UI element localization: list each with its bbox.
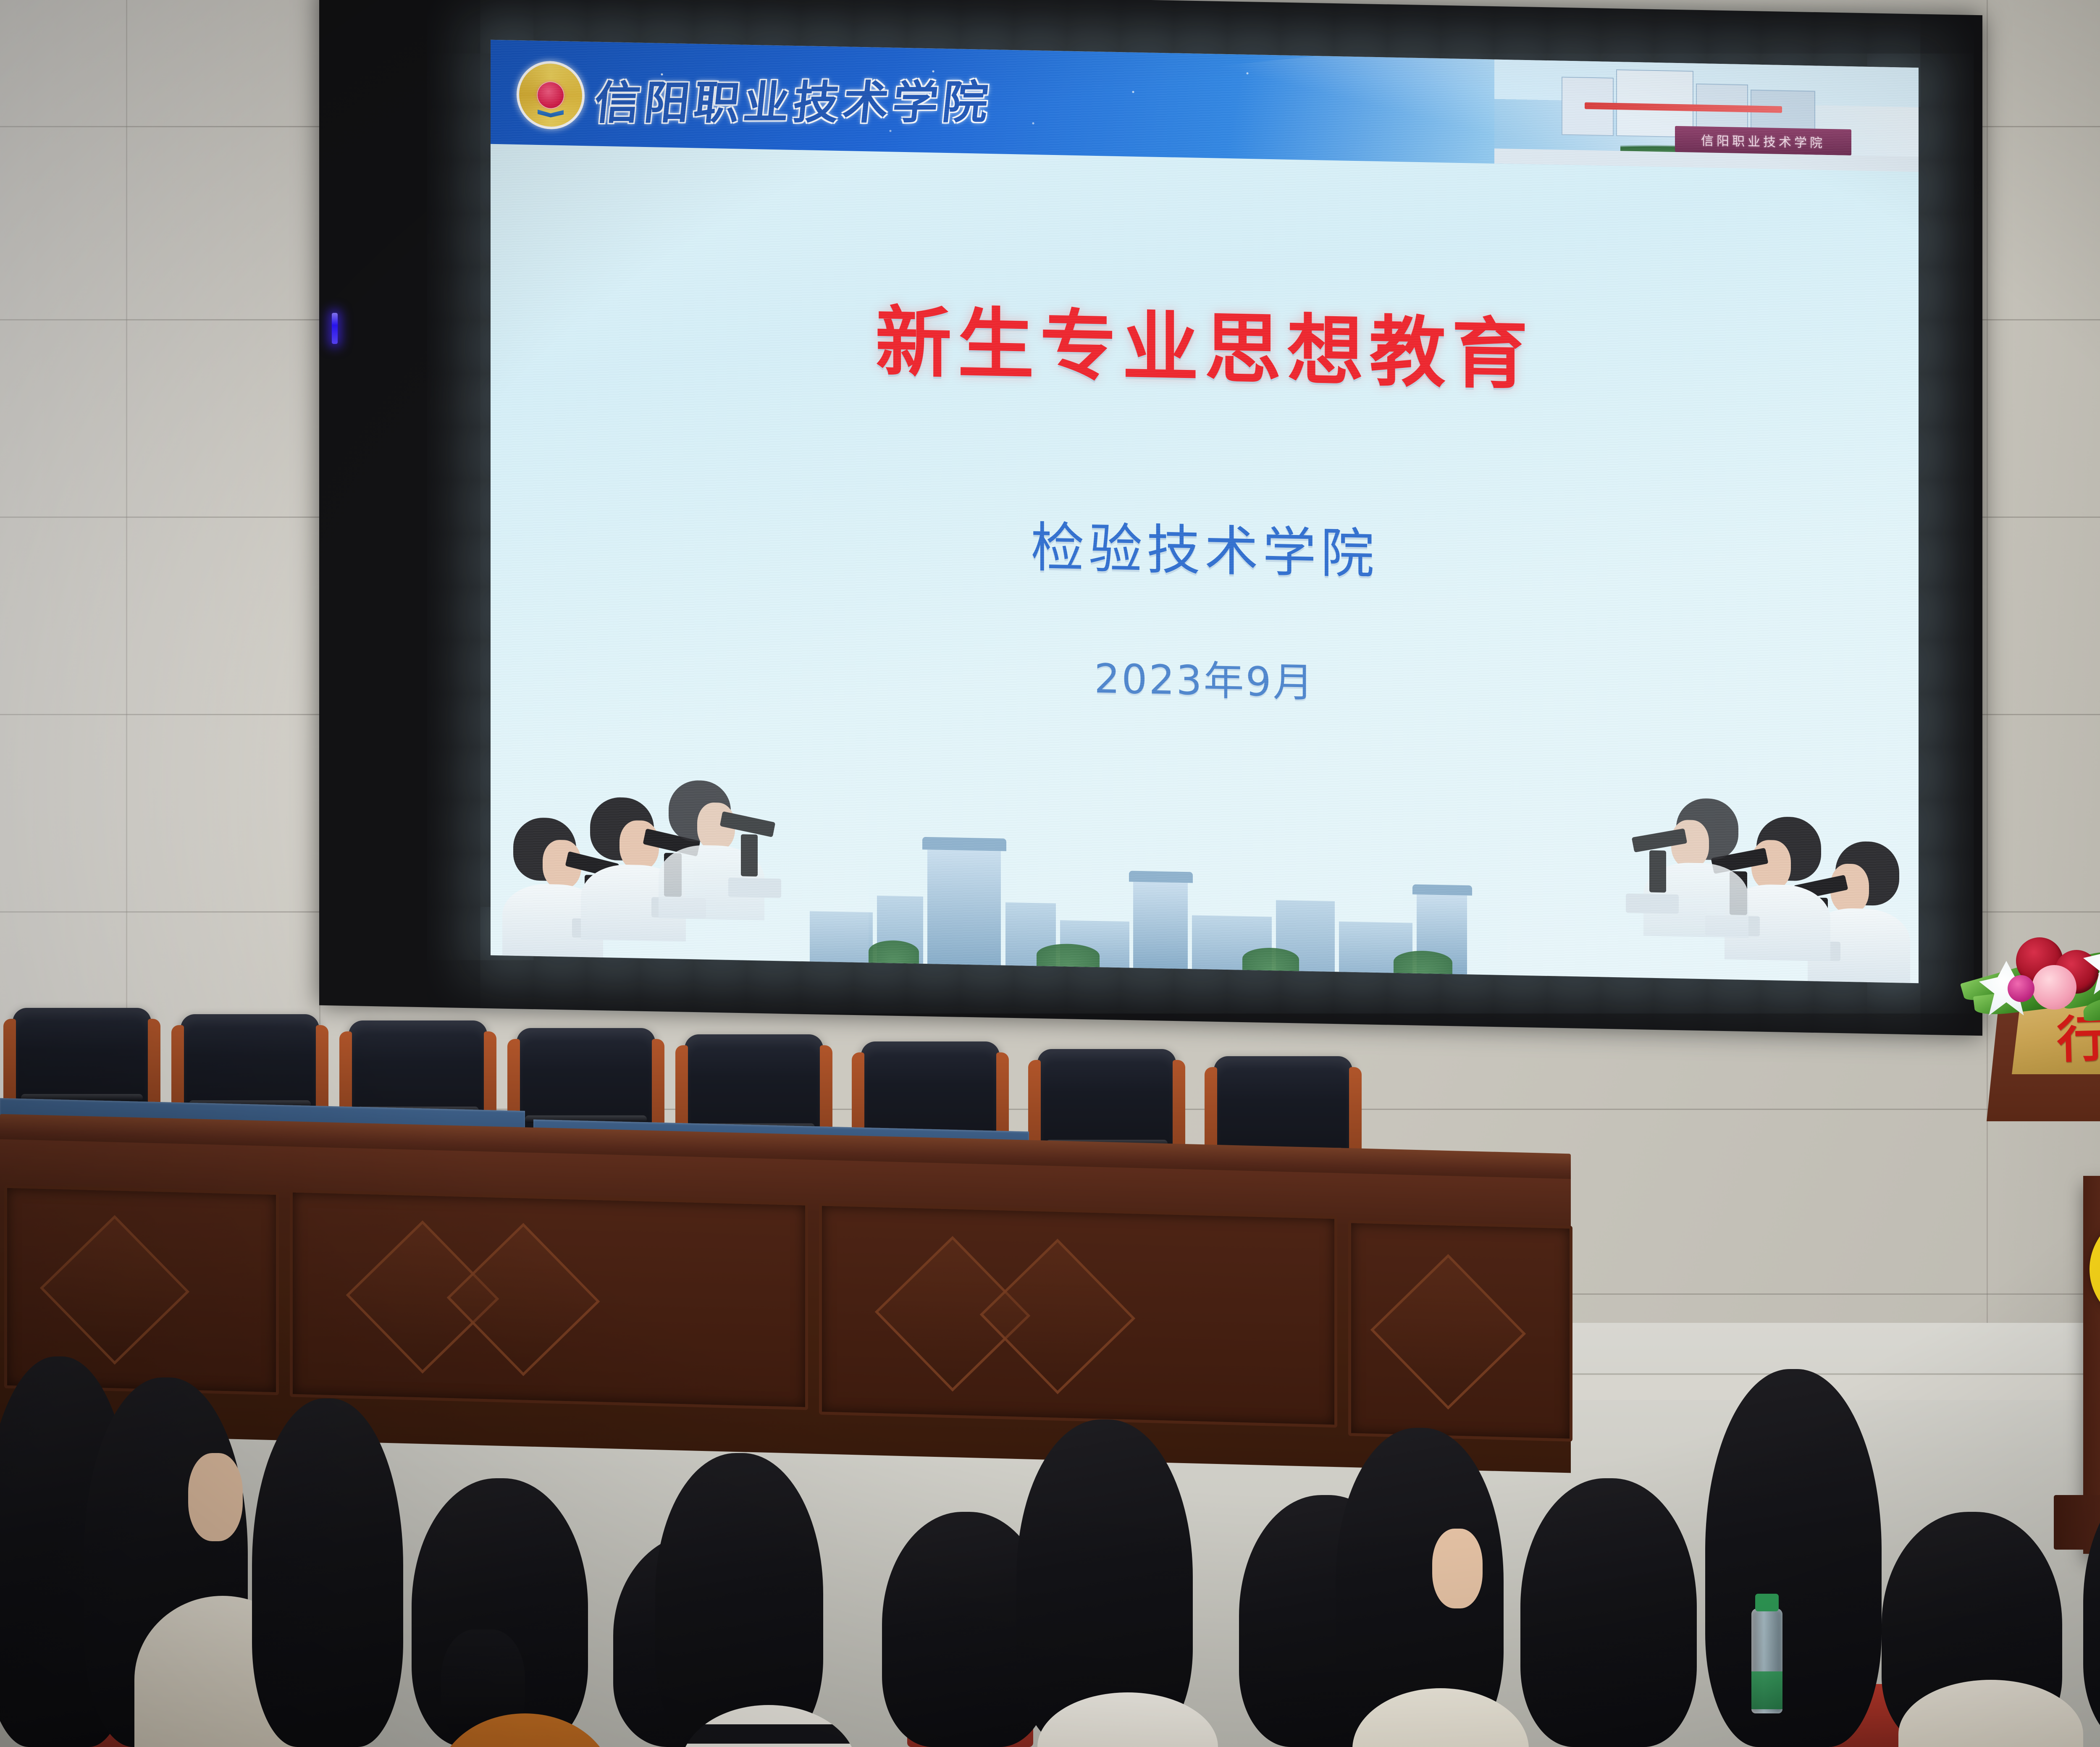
- flower-arrangement: [1957, 911, 2100, 1020]
- table-panel: [819, 1203, 1337, 1427]
- microscope-students-left: [491, 758, 869, 963]
- table-panel: [1348, 1220, 1572, 1442]
- auditorium-scene: 信阳职业技术学院 信阳职业技术学院 新生专业思想教育 检验技术学院 2023年9…: [0, 0, 2100, 1747]
- campus-photo: 信阳职业技术学院: [1494, 59, 1919, 172]
- bottle-cap: [1755, 1594, 1779, 1611]
- audience-member: [84, 1377, 248, 1747]
- power-led-icon: [332, 313, 338, 344]
- slide-date: 2023年9月: [491, 634, 1919, 720]
- audience-member: [655, 1453, 823, 1747]
- audience-member: [1882, 1512, 2062, 1747]
- audience-member: [412, 1478, 588, 1747]
- slide-title: 新生专业思想教育: [491, 273, 1919, 411]
- audience-member: [2083, 1470, 2100, 1747]
- audience-member: [1520, 1478, 1697, 1747]
- audience-member: [1705, 1369, 1882, 1747]
- campus-gate-sign-text: 信阳职业技术学院: [1701, 130, 1825, 151]
- presentation-slide: 信阳职业技术学院 信阳职业技术学院 新生专业思想教育 检验技术学院 2023年9…: [491, 40, 1919, 983]
- audience-member: [252, 1398, 403, 1747]
- slide-subtitle: 检验技术学院: [491, 493, 1919, 599]
- microscope-students-right: [1507, 778, 1919, 983]
- banner-institution-name: 信阳职业技术学院: [592, 67, 996, 131]
- water-bottle[interactable]: [1751, 1608, 1782, 1713]
- campus-gate-sign: 信阳职业技术学院: [1675, 126, 1851, 155]
- audience-member: [1016, 1419, 1193, 1747]
- slide-footer-imagery: [491, 758, 1919, 983]
- table-panel: [290, 1189, 808, 1410]
- emblem-english-name: XINYANG VOCATIONAL AND TECHNICAL COLLEGE: [2098, 1318, 2100, 1332]
- audience-member: [1336, 1428, 1504, 1747]
